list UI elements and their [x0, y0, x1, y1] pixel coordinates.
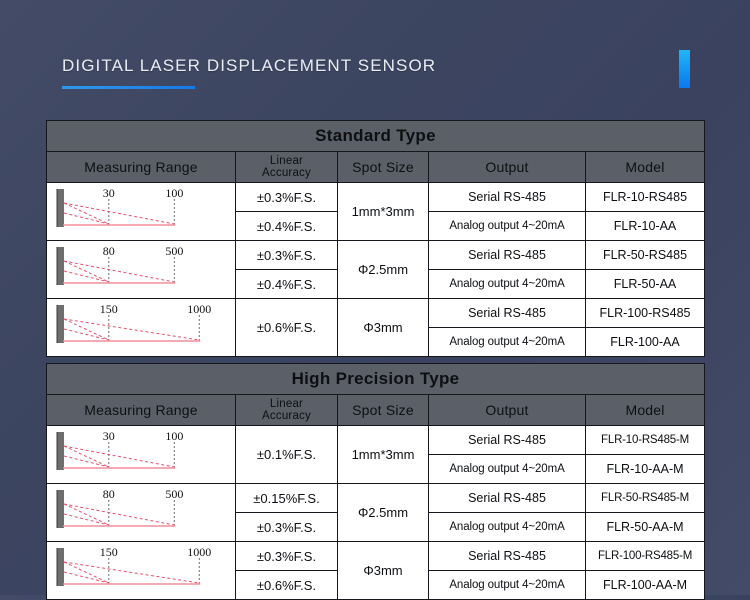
near-range-label: 30 [103, 186, 115, 200]
output-cell: Serial RS-485 [429, 426, 586, 455]
linear-accuracy-cell: ±0.3%F.S. [236, 241, 338, 270]
output-cell: Analog output 4~20mA [429, 571, 586, 600]
beam-line-near [64, 203, 109, 224]
model-cell: FLR-10-RS485 [586, 183, 705, 212]
accent-bar-icon [679, 50, 690, 88]
linear-accuracy-cell: ±0.3%F.S. [236, 513, 338, 542]
table-row: 30 100 ±0.3%F.S.1mm*3mmSerial RS-485FLR-… [47, 183, 705, 212]
spot-size-cell: Φ3mm [338, 542, 429, 600]
beam-line-near [64, 446, 109, 467]
spec-table-highprecision: High Precision Type Measuring Range Line… [46, 363, 705, 600]
sensor-body-icon [57, 305, 64, 343]
near-range-label: 80 [103, 487, 115, 501]
output-cell: Serial RS-485 [429, 183, 586, 212]
near-range-label: 80 [103, 244, 115, 258]
measuring-range-diagram: 30 100 [50, 426, 232, 478]
beam-line-far [64, 504, 174, 525]
table-banner-row: High Precision Type [47, 364, 705, 395]
measuring-range-cell: 30 100 [47, 426, 236, 484]
linear-accuracy-cell: ±0.1%F.S. [236, 426, 338, 484]
near-range-label: 150 [100, 302, 118, 316]
measuring-range-cell: 80 500 [47, 241, 236, 299]
beam-line-near [64, 504, 109, 525]
far-range-label: 1000 [187, 302, 211, 316]
col-spot-size: Spot Size [338, 395, 429, 426]
column-header-row: Measuring Range LinearAccuracy Spot Size… [47, 395, 705, 426]
beam-line-lower [64, 456, 109, 467]
spec-table-standard: Standard Type Measuring Range LinearAccu… [46, 120, 705, 357]
measuring-range-diagram: 30 100 [50, 183, 232, 235]
far-range-label: 500 [165, 244, 183, 258]
sensor-body-icon [57, 490, 64, 528]
measuring-range-cell: 150 1000 [47, 542, 236, 600]
measuring-range-cell: 150 1000 [47, 299, 236, 357]
table-row: 30 100 ±0.1%F.S.1mm*3mmSerial RS-485FLR-… [47, 426, 705, 455]
model-cell: FLR-10-RS485-M [586, 426, 705, 455]
title-underline [62, 86, 195, 89]
sensor-body-icon [57, 432, 64, 470]
linear-accuracy-cell: ±0.6%F.S. [236, 571, 338, 600]
col-linear-accuracy: LinearAccuracy [236, 395, 338, 426]
sensor-body-icon [57, 548, 64, 586]
col-output: Output [429, 395, 586, 426]
spot-size-cell: Φ3mm [338, 299, 429, 357]
output-cell: Analog output 4~20mA [429, 212, 586, 241]
model-cell: FLR-100-AA-M [586, 571, 705, 600]
output-cell: Serial RS-485 [429, 484, 586, 513]
sensor-body-icon [57, 247, 64, 285]
model-cell: FLR-10-AA-M [586, 455, 705, 484]
linear-accuracy-cell: ±0.4%F.S. [236, 270, 338, 299]
spot-size-cell: 1mm*3mm [338, 183, 429, 241]
col-measuring-range: Measuring Range [47, 152, 236, 183]
far-range-label: 100 [165, 429, 183, 443]
table-row: 150 1000 ±0.3%F.S.Φ3mmSerial RS-485FLR-1… [47, 542, 705, 571]
output-cell: Analog output 4~20mA [429, 455, 586, 484]
linear-accuracy-cell: ±0.3%F.S. [236, 542, 338, 571]
spot-size-cell: Φ2.5mm [338, 241, 429, 299]
model-cell: FLR-100-AA [586, 328, 705, 357]
model-cell: FLR-50-RS485-M [586, 484, 705, 513]
linear-accuracy-cell: ±0.6%F.S. [236, 299, 338, 357]
beam-line-lower [64, 213, 109, 224]
table-row: 80 500 ±0.3%F.S.Φ2.5mmSerial RS-485FLR-5… [47, 241, 705, 270]
output-cell: Serial RS-485 [429, 542, 586, 571]
col-measuring-range: Measuring Range [47, 395, 236, 426]
beam-line-near [64, 261, 109, 282]
far-range-label: 1000 [187, 545, 211, 559]
measuring-range-diagram: 150 1000 [50, 542, 232, 594]
measuring-range-cell: 80 500 [47, 484, 236, 542]
model-cell: FLR-50-AA-M [586, 513, 705, 542]
output-cell: Serial RS-485 [429, 241, 586, 270]
beam-line-far [64, 446, 174, 467]
linear-accuracy-cell: ±0.3%F.S. [236, 183, 338, 212]
model-cell: FLR-100-RS485 [586, 299, 705, 328]
spot-size-cell: 1mm*3mm [338, 426, 429, 484]
table-banner-highprecision: High Precision Type [47, 364, 705, 395]
column-header-row: Measuring Range LinearAccuracy Spot Size… [47, 152, 705, 183]
table-row: 80 500 ±0.15%F.S.Φ2.5mmSerial RS-485FLR-… [47, 484, 705, 513]
measuring-range-diagram: 80 500 [50, 241, 232, 293]
col-linear-accuracy: LinearAccuracy [236, 152, 338, 183]
model-cell: FLR-100-RS485-M [586, 542, 705, 571]
spot-size-cell: Φ2.5mm [338, 484, 429, 542]
beam-line-lower [64, 329, 109, 340]
measuring-range-diagram: 80 500 [50, 484, 232, 536]
table-banner-standard: Standard Type [47, 121, 705, 152]
beam-line-lower [64, 271, 109, 282]
beam-line-far [64, 319, 199, 340]
linear-accuracy-cell: ±0.15%F.S. [236, 484, 338, 513]
model-cell: FLR-10-AA [586, 212, 705, 241]
col-model: Model [586, 395, 705, 426]
output-cell: Analog output 4~20mA [429, 513, 586, 542]
beam-line-lower [64, 572, 109, 583]
output-cell: Analog output 4~20mA [429, 328, 586, 357]
col-output: Output [429, 152, 586, 183]
beam-line-far [64, 261, 174, 282]
beam-line-far [64, 562, 199, 583]
table-banner-row: Standard Type [47, 121, 705, 152]
model-cell: FLR-50-RS485 [586, 241, 705, 270]
col-spot-size: Spot Size [338, 152, 429, 183]
page-title: DIGITAL LASER DISPLACEMENT SENSOR [62, 56, 436, 76]
near-range-label: 30 [103, 429, 115, 443]
sensor-body-icon [57, 189, 64, 227]
beam-line-lower [64, 514, 109, 525]
far-range-label: 100 [165, 186, 183, 200]
linear-accuracy-cell: ±0.4%F.S. [236, 212, 338, 241]
model-cell: FLR-50-AA [586, 270, 705, 299]
output-cell: Analog output 4~20mA [429, 270, 586, 299]
measuring-range-diagram: 150 1000 [50, 299, 232, 351]
near-range-label: 150 [100, 545, 118, 559]
measuring-range-cell: 30 100 [47, 183, 236, 241]
far-range-label: 500 [165, 487, 183, 501]
beam-line-far [64, 203, 174, 224]
table-row: 150 1000 ±0.6%F.S.Φ3mmSerial RS-485FLR-1… [47, 299, 705, 328]
page-header: DIGITAL LASER DISPLACEMENT SENSOR [0, 0, 750, 110]
col-model: Model [586, 152, 705, 183]
output-cell: Serial RS-485 [429, 299, 586, 328]
